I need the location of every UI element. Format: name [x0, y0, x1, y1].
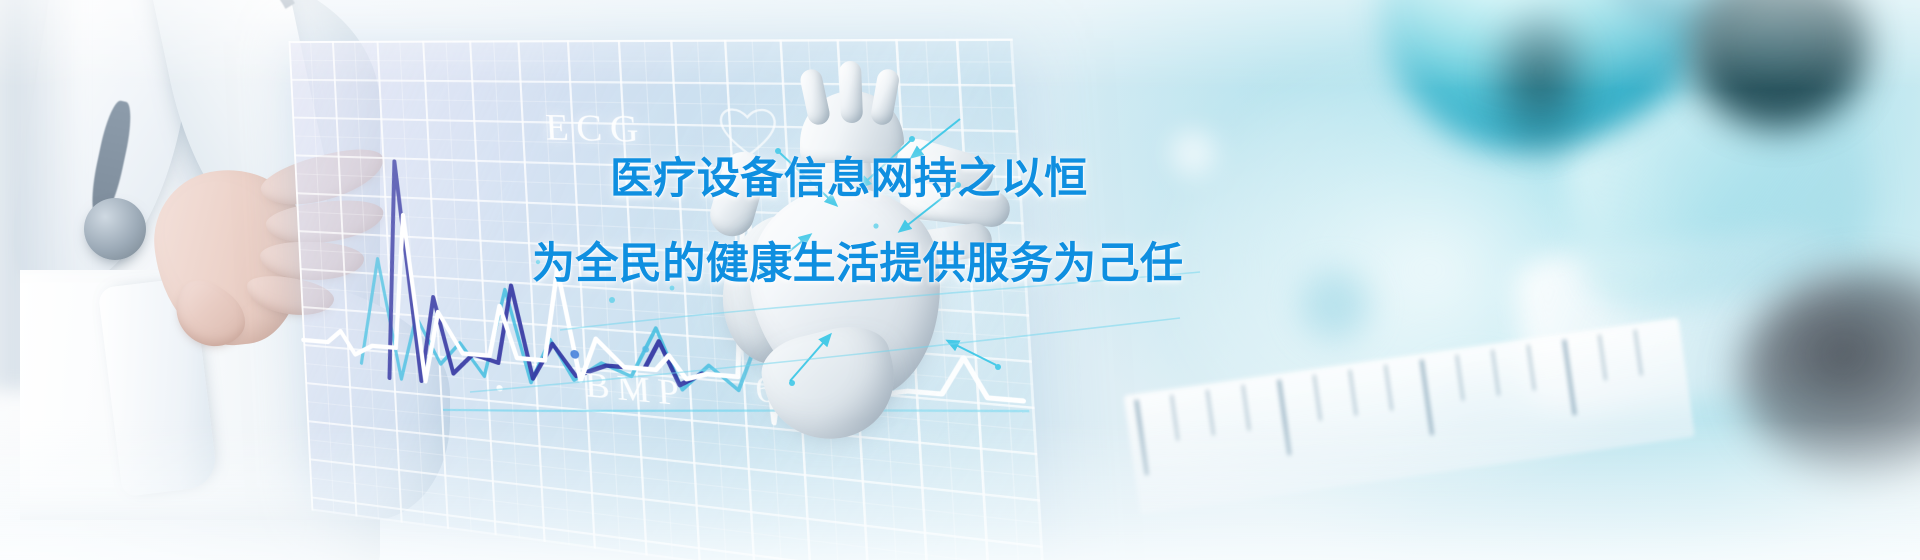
flow-arrow: [900, 187, 956, 231]
flow-arrow: [912, 119, 960, 157]
medical-hero-banner: ECG BMP 68: [0, 0, 1920, 560]
flow-arrow: [860, 141, 910, 187]
flow-arrow: [780, 153, 836, 205]
flow-node: [955, 182, 961, 188]
flow-node: [909, 136, 915, 142]
flow-node: [775, 148, 781, 154]
flow-node: [789, 380, 795, 386]
bokeh-highlight: [1170, 130, 1216, 176]
heart-flow-indicators: [660, 35, 1100, 495]
stethoscope-chestpiece: [84, 198, 146, 260]
flow-arrow: [790, 335, 830, 381]
flow-arrow: [764, 235, 810, 271]
microscope-shadow-lower: [1480, 10, 1600, 160]
flow-node: [759, 270, 765, 276]
flow-arrow: [948, 341, 996, 365]
anatomical-heart-model: [700, 95, 1030, 425]
flow-node: [995, 364, 1001, 370]
